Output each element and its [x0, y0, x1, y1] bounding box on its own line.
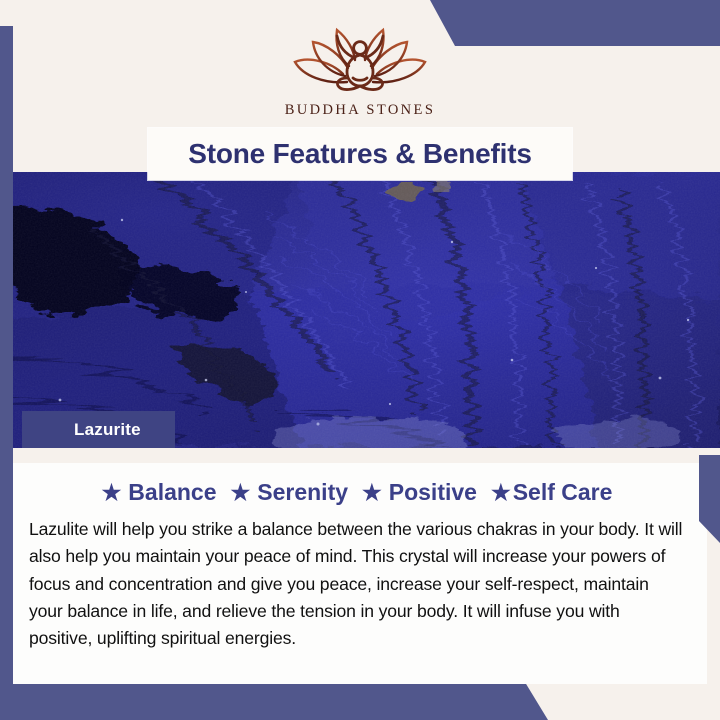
benefit-label: Positive: [389, 479, 477, 506]
benefit-item: ★ Balance: [102, 479, 231, 506]
benefit-item: ★ Serenity: [231, 479, 363, 506]
title-banner: Stone Features & Benefits: [148, 128, 572, 180]
content-panel: ★ Balance ★ Serenity ★ Positive ★ Self C…: [13, 463, 707, 684]
stone-caption: Lazurite: [22, 411, 175, 448]
stone-description: Lazulite will help you strike a balance …: [29, 516, 685, 652]
stone-info-card: BUDDHA STONES Stone Features & Benefits: [0, 0, 720, 720]
lazurite-rough-stone-photo: Lazurite: [0, 172, 720, 448]
lotus-meditation-figure-icon: [285, 22, 435, 96]
star-icon: ★: [491, 482, 511, 504]
benefit-item: ★ Self Care: [491, 479, 612, 506]
brand-name: BUDDHA STONES: [285, 102, 436, 119]
benefit-label: Balance: [128, 479, 216, 506]
star-icon: ★: [362, 482, 382, 504]
benefit-label: Self Care: [513, 479, 613, 506]
page-title: Stone Features & Benefits: [188, 138, 532, 170]
benefit-item: ★ Positive: [362, 479, 491, 506]
benefits-row: ★ Balance ★ Serenity ★ Positive ★ Self C…: [29, 479, 685, 506]
star-icon: ★: [231, 482, 251, 504]
benefit-label: Serenity: [257, 479, 348, 506]
cream-divider-strip: [13, 448, 707, 463]
star-icon: ★: [102, 482, 122, 504]
